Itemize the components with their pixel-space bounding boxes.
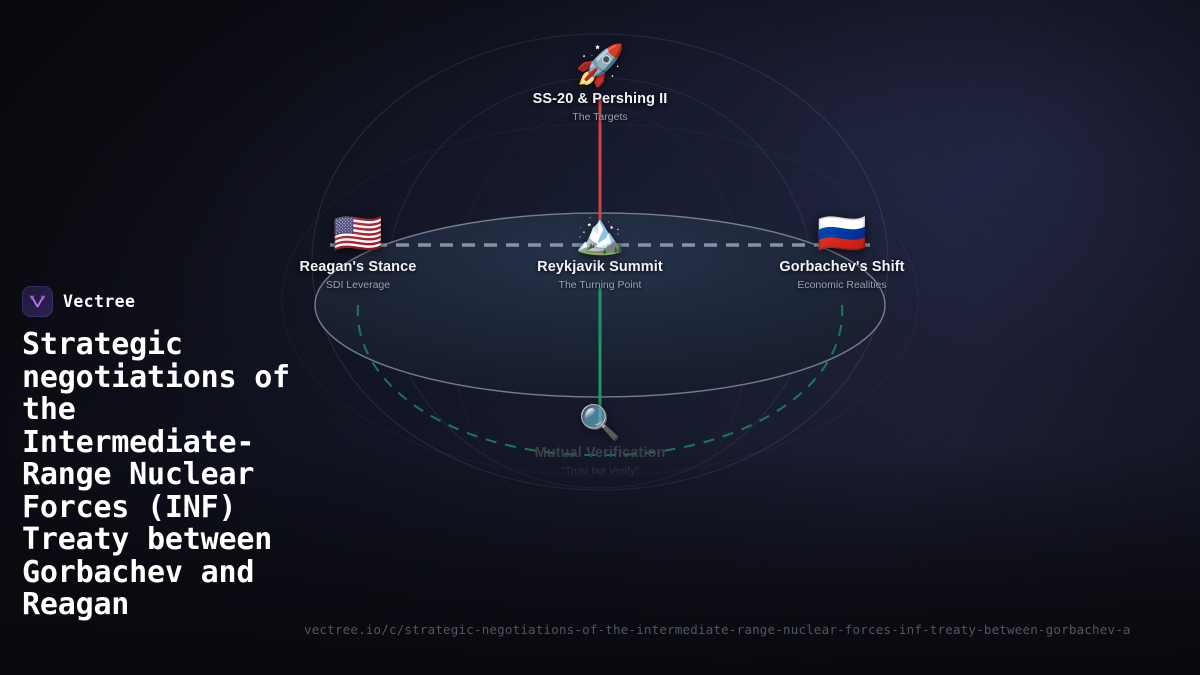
brand-row[interactable]: Vectree: [22, 286, 322, 317]
brand-and-title-block: Vectree Strategic negotiations of the In…: [22, 286, 322, 622]
url-text: vectree.io/c/strategic-negotiations-of-t…: [304, 622, 1200, 637]
brand-name: Vectree: [63, 292, 135, 311]
vectree-v-logo-icon: [22, 286, 53, 317]
page-title: Strategic negotiations of the Intermedia…: [22, 329, 322, 622]
screenshot-canvas: 🚀 SS-20 & Pershing II The Targets 🇺🇸 Rea…: [0, 0, 1200, 675]
